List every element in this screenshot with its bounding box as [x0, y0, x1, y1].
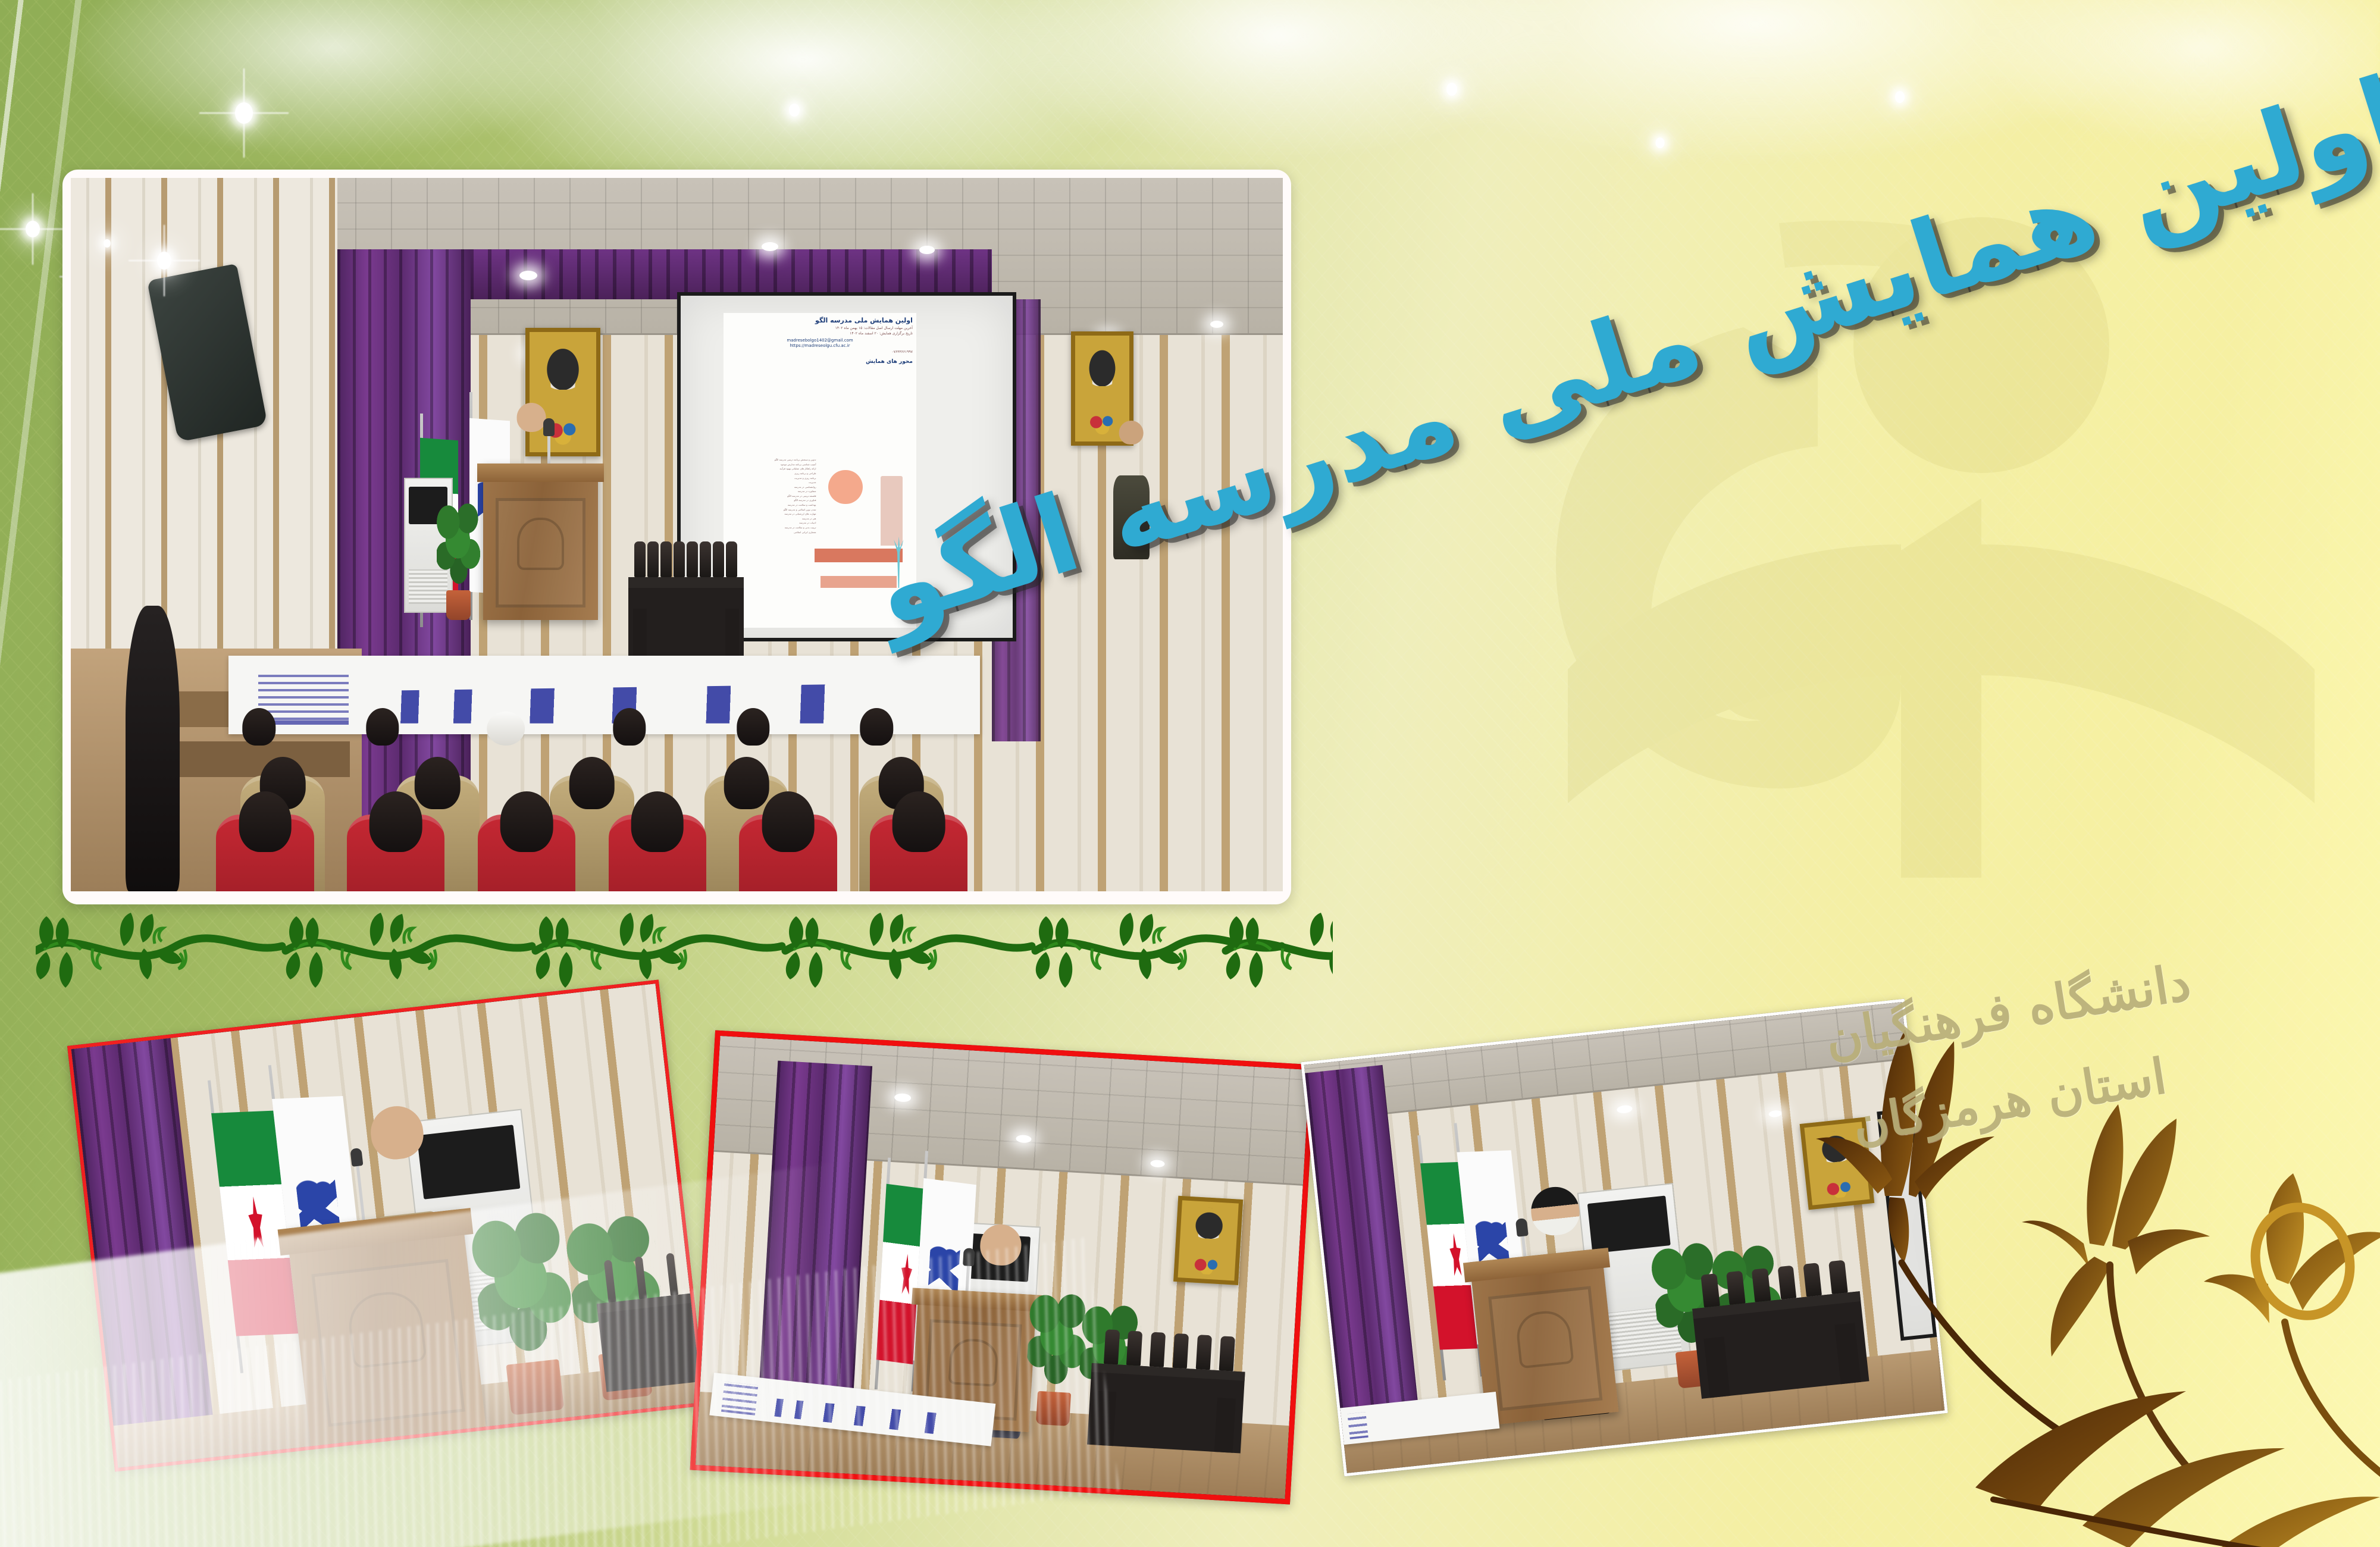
podium	[483, 464, 599, 621]
main-photo-frame: اولین همایش ملی مدرسه الگو آخرین مهلت ار…	[62, 170, 1291, 904]
slide-phone: ۰۷۶۳۳۶۶۱۹۹۷	[727, 350, 913, 354]
slide-axes-list: تدوین و سنجش برنامه درسی مدرسه الگو آسیب…	[731, 458, 816, 534]
trophy-table	[1692, 1291, 1869, 1399]
slide-website: https://madreseolgu.cfu.ac.ir	[726, 343, 914, 348]
standing-guard	[1119, 421, 1144, 485]
sparkle-icon	[1880, 77, 1919, 117]
slide-deadline: آخرین مهلت ارسال اصل مقالات: ۱۵ بهمن ماه…	[727, 326, 913, 330]
slide-email: madresebolgo1402@gmail.com	[726, 338, 914, 343]
sparkle-icon	[0, 196, 65, 262]
audience-row-front	[216, 763, 967, 891]
thumbnail-speaker-tan-suit	[67, 980, 706, 1472]
sparkle-icon	[1642, 125, 1678, 161]
sparkle-icon	[773, 89, 815, 131]
farhangian-university-emblem-watermark	[1428, 178, 2320, 1011]
sparkle-icon	[202, 71, 286, 155]
thumbnail-cleric-speaker	[1301, 999, 1948, 1477]
trophy-row	[634, 541, 737, 577]
slide-artwork	[809, 464, 909, 615]
trophy-row	[604, 1253, 679, 1303]
trophy-table	[1087, 1363, 1245, 1453]
poster-canvas: اولین همایش ملی مدرسه الگو آخرین مهلت ار…	[0, 0, 2380, 1547]
main-photo: اولین همایش ملی مدرسه الگو آخرین مهلت ار…	[71, 178, 1283, 891]
vine-divider-ornament	[36, 904, 1333, 1000]
foreground-standing-person	[126, 606, 180, 891]
slide-date: تاریخ برگزاری همایش: ۲۰ اسفند ماه ۱۴۰۲	[727, 331, 913, 336]
sparkle-icon	[1428, 65, 1476, 113]
khomeini-portrait	[1173, 1196, 1243, 1285]
trophy-table	[597, 1294, 700, 1392]
khomeini-portrait	[1800, 1117, 1875, 1210]
thumbnail-speaker-grey-suit	[690, 1031, 1316, 1505]
slide-axes-heading: محور های همایش	[727, 359, 913, 365]
slide-title: اولین همایش ملی مدرسه الگو	[727, 317, 913, 324]
potted-plant	[437, 506, 480, 621]
podium	[286, 1209, 486, 1446]
headline-container: اولین همایش ملی مدرسه الگو	[1226, 0, 2380, 434]
